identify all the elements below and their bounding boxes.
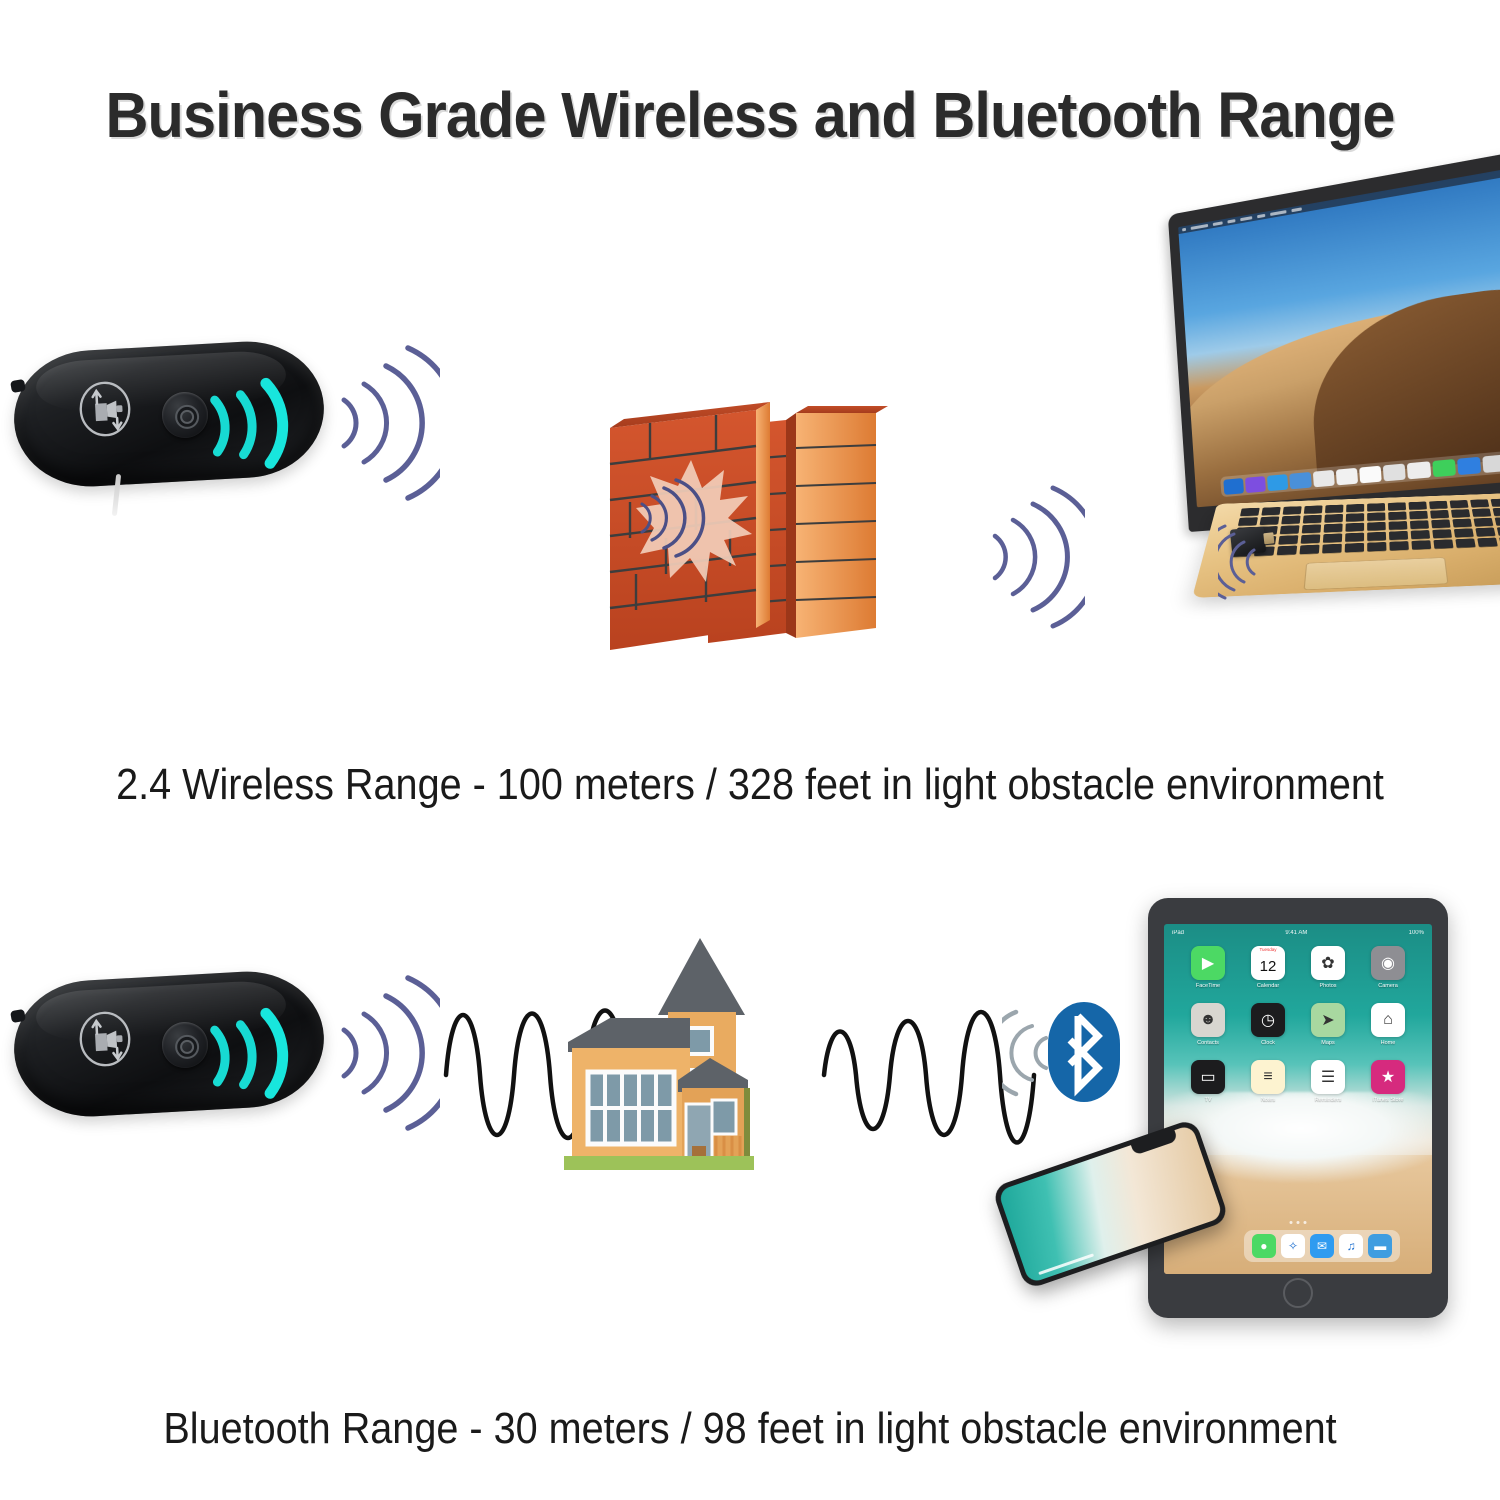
app-camera-icon[interactable]: ◉Camera — [1358, 946, 1418, 989]
page-dots — [1290, 1221, 1307, 1224]
bluetooth-logo-icon — [1048, 1002, 1120, 1102]
app-notes-icon[interactable]: ≡Notes — [1238, 1060, 1298, 1103]
ipad-dock[interactable]: ●✧✉♫▬ — [1244, 1230, 1399, 1262]
tv-icon: ▭ — [1191, 1060, 1225, 1094]
clock-icon: ◷ — [1251, 1003, 1285, 1037]
bluetooth-glyph — [1048, 1002, 1120, 1102]
app-itunes-store-icon[interactable]: ★iTunes Store — [1358, 1060, 1418, 1103]
status-carrier: iPad — [1172, 930, 1184, 936]
scanner-transmit-icon — [72, 376, 137, 441]
app-label: iTunes Store — [1373, 1097, 1404, 1103]
brick-wall-obstacle — [588, 388, 978, 680]
app-tv-icon[interactable]: ▭TV — [1178, 1060, 1238, 1103]
files-icon[interactable]: ▬ — [1368, 1234, 1392, 1258]
app-maps-icon[interactable]: ➤Maps — [1298, 1003, 1358, 1046]
reminders-icon: ☰ — [1311, 1060, 1345, 1094]
status-battery: 100% — [1409, 930, 1424, 936]
app-label: Camera — [1378, 983, 1398, 989]
app-home-icon[interactable]: ⌂Home — [1358, 1003, 1418, 1046]
macos-menu-bar[interactable] — [1178, 167, 1500, 234]
dongle-signal-waves — [1218, 518, 1272, 604]
brick-wall-graphic — [588, 388, 978, 680]
wireless-signal-waves-source — [330, 338, 440, 508]
house-graphic — [540, 920, 840, 1220]
facetime-icon: ▶ — [1191, 946, 1225, 980]
mojave-dune-shadow — [1307, 280, 1500, 477]
app-label: Contacts — [1197, 1040, 1219, 1046]
scanner-led-indicator — [197, 361, 313, 487]
app-photos-icon[interactable]: ✿Photos — [1298, 946, 1358, 989]
iphone-notch — [1131, 1129, 1178, 1155]
safari-icon[interactable]: ✧ — [1281, 1234, 1305, 1258]
app-contacts-icon[interactable]: ☻Contacts — [1178, 1003, 1238, 1046]
photos-icon: ✿ — [1311, 946, 1345, 980]
mail-icon[interactable]: ✉ — [1310, 1234, 1334, 1258]
notes-icon: ≡ — [1251, 1060, 1285, 1094]
app-label: Photos — [1319, 983, 1336, 989]
ipad-status-bar: iPad 9:41 AM 100% — [1172, 928, 1424, 937]
calendar-icon: Tuesday12 — [1251, 946, 1285, 980]
wireless-range-caption: 2.4 Wireless Range - 100 meters / 328 fe… — [75, 760, 1425, 810]
home-icon: ⌂ — [1371, 1003, 1405, 1037]
itunes-store-icon: ★ — [1371, 1060, 1405, 1094]
ipad-home-button[interactable] — [1283, 1278, 1313, 1308]
laptop-lid: ipad-tablet-and-iphone MacBook Air — [1168, 150, 1500, 532]
app-label: TV — [1204, 1097, 1211, 1103]
app-facetime-icon[interactable]: ▶FaceTime — [1178, 946, 1238, 989]
bluetooth-range-caption: Bluetooth Range - 30 meters / 98 feet in… — [75, 1404, 1425, 1454]
scanner-transmit-icon — [72, 1006, 137, 1071]
app-label: Clock — [1261, 1040, 1275, 1046]
bluetooth-logo-body — [1048, 1002, 1120, 1102]
contacts-icon: ☻ — [1191, 1003, 1225, 1037]
camera-icon: ◉ — [1371, 946, 1405, 980]
app-label: Maps — [1321, 1040, 1334, 1046]
app-label: Calendar — [1257, 983, 1279, 989]
ipad-app-grid[interactable]: ▶FaceTimeTuesday12Calendar✿Photos◉Camera… — [1178, 946, 1418, 1103]
status-time: 9:41 AM — [1285, 930, 1307, 936]
infographic-canvas: Business Grade Wireless and Bluetooth Ra… — [0, 0, 1500, 1500]
app-label: Home — [1381, 1040, 1396, 1046]
iphone-home-indicator — [1038, 1253, 1094, 1275]
maps-icon: ➤ — [1311, 1003, 1345, 1037]
wireless-signal-waves-through-wall — [985, 478, 1085, 638]
scanner-led-indicator — [197, 991, 313, 1117]
app-reminders-icon[interactable]: ☰Reminders — [1298, 1060, 1358, 1103]
app-label: FaceTime — [1196, 983, 1220, 989]
messages-icon[interactable]: ● — [1252, 1234, 1276, 1258]
laptop-trackpad[interactable] — [1303, 557, 1448, 590]
music-icon[interactable]: ♫ — [1339, 1234, 1363, 1258]
page-title: Business Grade Wireless and Bluetooth Ra… — [53, 78, 1448, 152]
app-label: Notes — [1261, 1097, 1275, 1103]
bluetooth-signal-waves-source — [330, 968, 440, 1138]
wireless-scanner-device — [14, 338, 334, 498]
bluetooth-scanner-device — [14, 968, 334, 1128]
laptop-screen — [1178, 167, 1500, 507]
app-label: Reminders — [1315, 1097, 1342, 1103]
ipad-tablet: iPad 9:41 AM 100% ▶FaceTimeTuesday12Cale… — [1148, 898, 1448, 1318]
app-calendar-icon[interactable]: Tuesday12Calendar — [1238, 946, 1298, 989]
app-clock-icon[interactable]: ◷Clock — [1238, 1003, 1298, 1046]
house-obstacle — [540, 920, 840, 1220]
